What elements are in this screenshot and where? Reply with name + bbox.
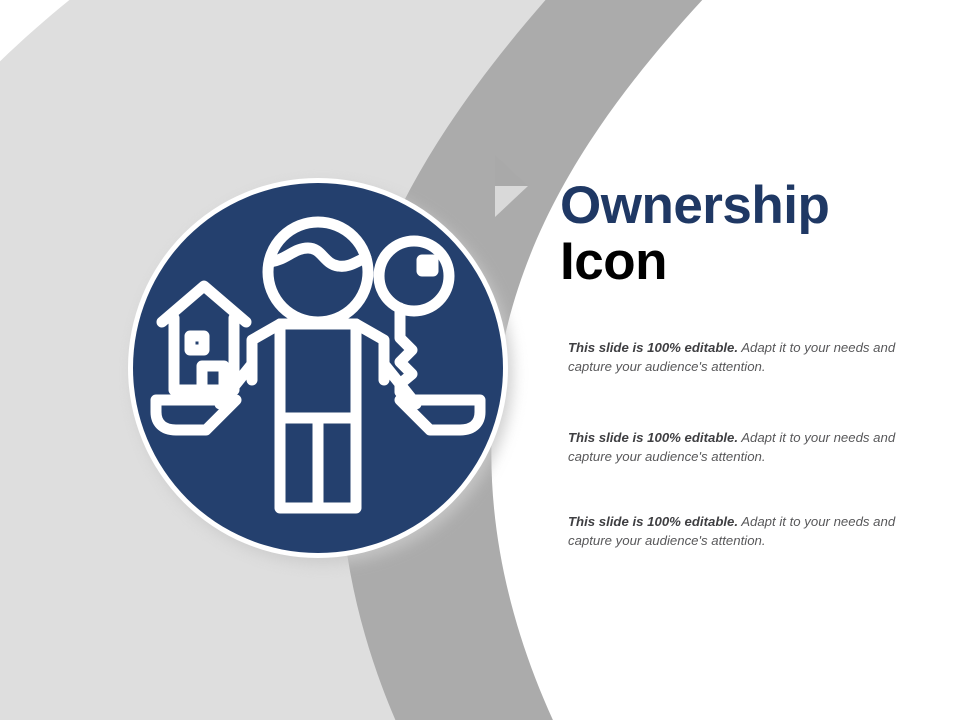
page-title: OwnershipIcon [560,178,940,290]
key-shaft-teeth-icon [400,308,412,384]
title-row: OwnershipIcon [492,150,940,296]
right-tray-icon [400,400,480,430]
page-title-primary: Ownership [560,176,829,235]
person-hair-icon [270,248,366,266]
person-torso-icon [280,324,356,418]
ownership-person-house-key-icon [128,178,508,558]
body-text-lead: This slide is 100% editable. [568,514,738,529]
body-text-block: This slide is 100% editable. Adapt it to… [568,513,924,550]
slide-canvas: OwnershipIcon This slide is 100% editabl… [0,0,960,720]
body-text-lead: This slide is 100% editable. [568,430,738,445]
content-panel: OwnershipIcon This slide is 100% editabl… [492,150,940,570]
ownership-icon-badge [128,178,508,558]
person-left-leg-icon [280,418,318,508]
body-text-lead: This slide is 100% editable. [568,340,738,355]
key-bow-hole-icon [422,260,433,271]
person-right-leg-icon [318,418,356,508]
key-bow-icon [379,241,449,311]
body-text-block: This slide is 100% editable. Adapt it to… [568,429,924,466]
body-text-block: This slide is 100% editable. Adapt it to… [568,339,924,376]
left-tray-icon [156,400,236,430]
page-title-secondary: Icon [560,232,667,291]
house-window-icon [190,336,204,350]
person-head-icon [268,222,368,322]
triangle-right-arrow-icon [495,155,531,217]
